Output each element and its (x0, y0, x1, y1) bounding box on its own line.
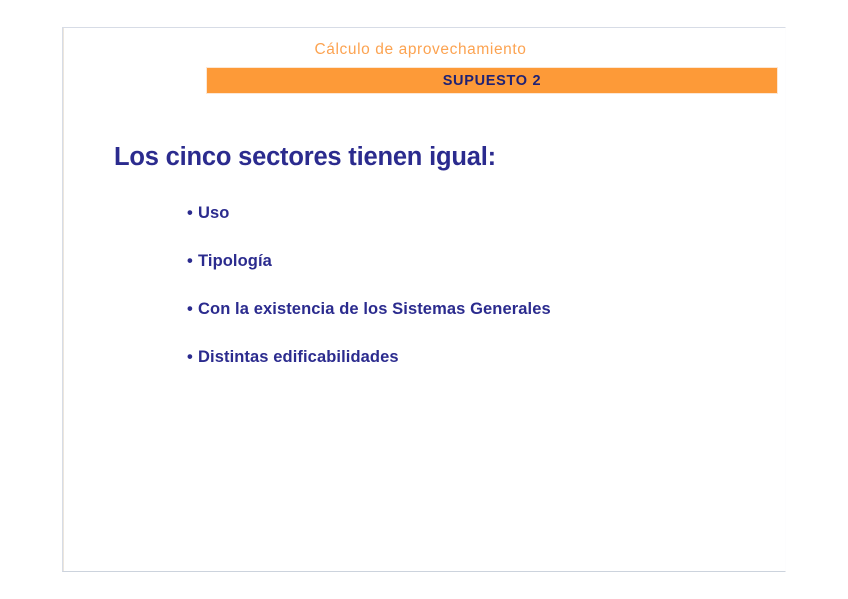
header-subtitle: Cálculo de aprovechamiento (63, 41, 778, 59)
slide-left-rule (63, 28, 64, 571)
bullet-dot-icon: • (187, 205, 198, 222)
bullet-dot-icon: • (187, 301, 198, 318)
list-item: • Uso (187, 204, 551, 252)
slide-canvas: Cálculo de aprovechamiento SUPUESTO 2 Lo… (62, 27, 786, 572)
supuesto-banner: SUPUESTO 2 (206, 67, 778, 94)
list-item-label: Con la existencia de los Sistemas Genera… (198, 300, 551, 319)
list-item: • Distintas edificabilidades (187, 348, 551, 396)
bullet-list: • Uso • Tipología • Con la existencia de… (187, 204, 551, 396)
list-item-label: Uso (198, 204, 229, 223)
list-item-label: Tipología (198, 252, 272, 271)
bullet-dot-icon: • (187, 253, 198, 270)
list-item: • Tipología (187, 252, 551, 300)
supuesto-banner-label: SUPUESTO 2 (443, 73, 542, 89)
slide-heading: Los cinco sectores tienen igual: (114, 143, 496, 172)
list-item: • Con la existencia de los Sistemas Gene… (187, 300, 551, 348)
list-item-label: Distintas edificabilidades (198, 348, 399, 367)
bullet-dot-icon: • (187, 349, 198, 366)
